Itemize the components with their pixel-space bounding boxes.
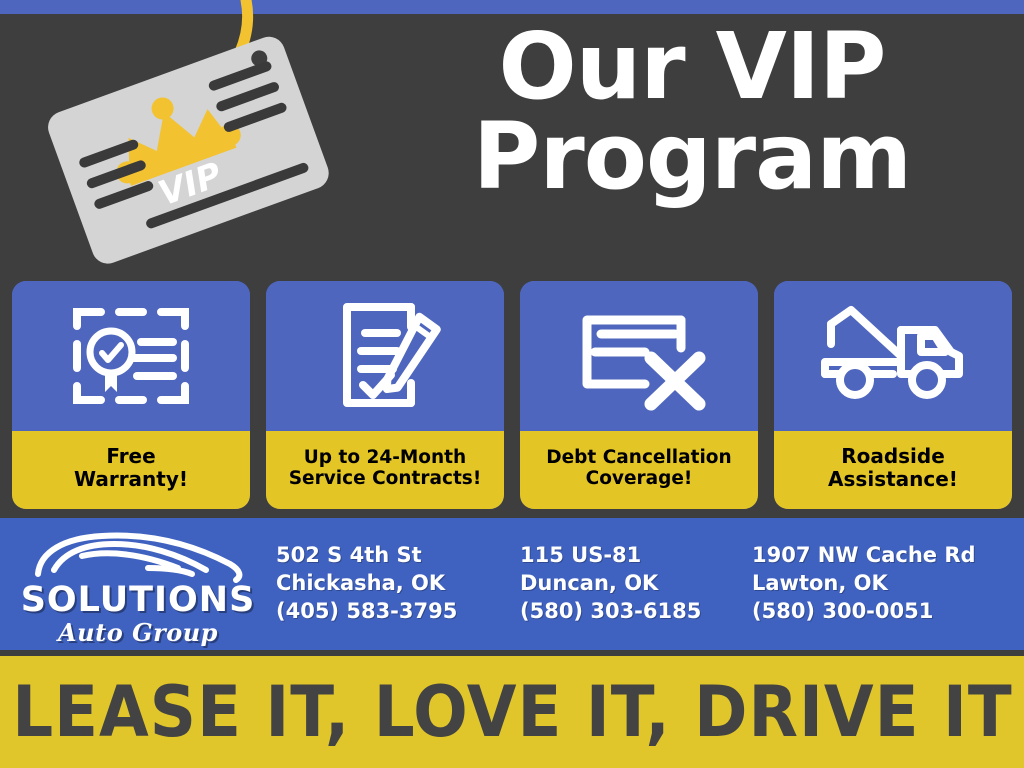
feature-card-label: Roadside Assistance! xyxy=(774,431,1012,509)
feature-card-free-warranty[interactable]: Free Warranty! xyxy=(12,281,250,509)
feature-card-label: Free Warranty! xyxy=(12,431,250,509)
feature-card-label: Up to 24-Month Service Contracts! xyxy=(266,431,504,509)
hero-section: VIP Our VIP Program xyxy=(0,14,1024,281)
location-street: 115 US-81 xyxy=(520,542,752,570)
feature-card-label: Debt Cancellation Coverage! xyxy=(520,431,758,509)
location-list: 502 S 4th St Chickasha, OK (405) 583-379… xyxy=(276,518,1024,650)
logo-company-name: SOLUTIONS xyxy=(0,580,276,620)
location-city: Duncan, OK xyxy=(520,570,752,598)
tagline-band: LEASE IT, LOVE IT, DRIVE IT xyxy=(0,656,1024,768)
location-item[interactable]: 1907 NW Cache Rd Lawton, OK (580) 300-00… xyxy=(752,542,1024,626)
page-title: Our VIP Program xyxy=(372,22,1012,202)
location-item[interactable]: 502 S 4th St Chickasha, OK (405) 583-379… xyxy=(276,542,520,626)
location-phone[interactable]: (580) 303-6185 xyxy=(520,598,752,626)
location-phone[interactable]: (405) 583-3795 xyxy=(276,598,520,626)
certificate-award-icon xyxy=(12,281,250,431)
location-phone[interactable]: (580) 300-0051 xyxy=(752,598,1024,626)
feature-card-list: Free Warranty! xyxy=(0,281,1024,515)
location-item[interactable]: 115 US-81 Duncan, OK (580) 303-6185 xyxy=(520,542,752,626)
location-street: 1907 NW Cache Rd xyxy=(752,542,1024,570)
credit-card-cancel-icon xyxy=(520,281,758,431)
feature-card-service-contracts[interactable]: Up to 24-Month Service Contracts! xyxy=(266,281,504,509)
car-silhouette-icon xyxy=(30,530,250,586)
feature-card-debt-cancellation[interactable]: Debt Cancellation Coverage! xyxy=(520,281,758,509)
contract-document-pen-icon xyxy=(266,281,504,431)
location-street: 502 S 4th St xyxy=(276,542,520,570)
location-city: Lawton, OK xyxy=(752,570,1024,598)
contact-band: SOLUTIONS Auto Group 502 S 4th St Chicka… xyxy=(0,518,1024,650)
company-logo[interactable]: SOLUTIONS Auto Group xyxy=(0,518,276,650)
vip-program-poster: VIP Our VIP Program xyxy=(0,0,1024,768)
location-city: Chickasha, OK xyxy=(276,570,520,598)
feature-card-roadside-assistance[interactable]: Roadside Assistance! xyxy=(774,281,1012,509)
tow-truck-icon xyxy=(774,281,1012,431)
logo-subtitle: Auto Group xyxy=(0,618,276,647)
tagline-text: LEASE IT, LOVE IT, DRIVE IT xyxy=(12,671,1013,753)
vip-membership-card-icon: VIP xyxy=(18,0,348,300)
